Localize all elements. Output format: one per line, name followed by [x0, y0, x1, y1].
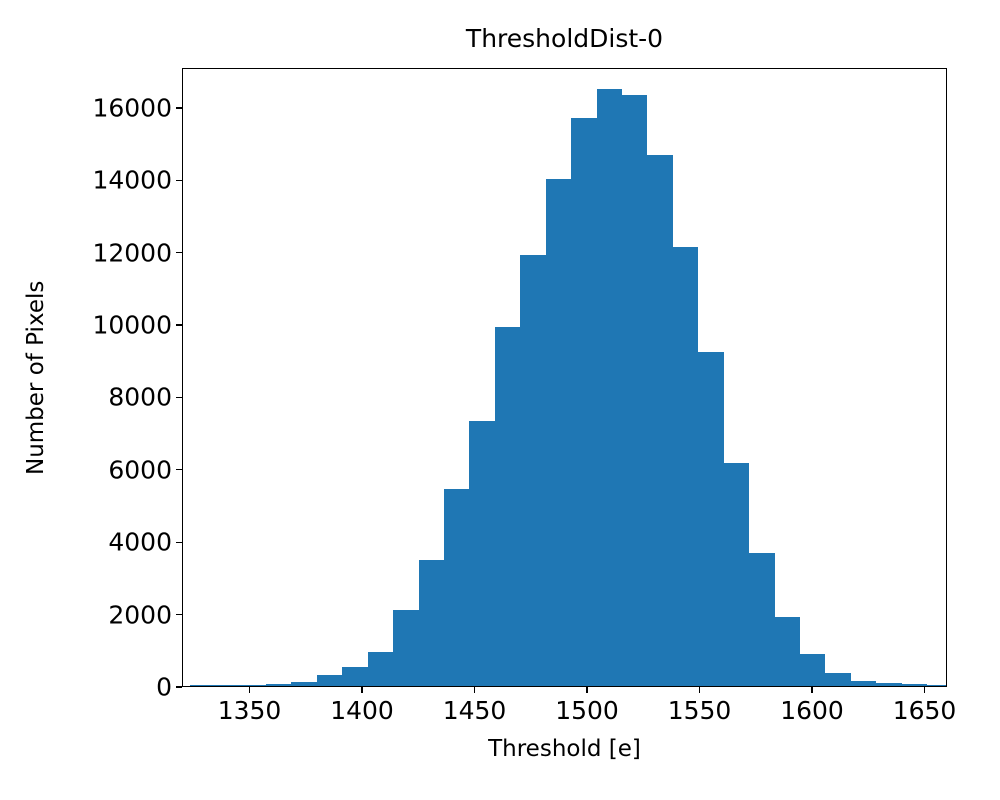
histogram-bar [419, 560, 444, 686]
histogram-bar [902, 684, 927, 686]
histogram-bar [927, 685, 947, 686]
y-axis-label: Number of Pixels [23, 281, 49, 475]
x-axis-tick-label: 1400 [330, 698, 394, 723]
histogram-bar [597, 89, 622, 686]
x-axis-tick-label: 1450 [443, 698, 507, 723]
histogram-bar [825, 673, 850, 686]
histogram-bar [724, 463, 749, 686]
y-axis-tick-label: 16000 [92, 95, 172, 120]
x-axis-tick-mark [924, 687, 925, 693]
x-axis-tick-label: 1650 [893, 698, 957, 723]
y-axis-tick-label: 6000 [108, 457, 172, 482]
y-axis-tick-label: 2000 [108, 602, 172, 627]
x-axis-tick-label: 1350 [218, 698, 282, 723]
x-axis-tick-mark [249, 687, 250, 693]
y-axis-tick-label: 12000 [92, 240, 172, 265]
x-axis-tick-label: 1600 [780, 698, 844, 723]
histogram-bars [183, 69, 946, 686]
histogram-bar [775, 617, 800, 687]
x-axis-tick-mark [699, 687, 700, 693]
histogram-bar [647, 155, 672, 686]
x-axis-tick-label: 1550 [668, 698, 732, 723]
y-axis-tick-mark [176, 542, 182, 543]
histogram-bar [876, 683, 901, 686]
y-axis-tick-mark [176, 252, 182, 253]
histogram-bar [393, 610, 418, 686]
y-axis-tick-mark [176, 397, 182, 398]
y-axis-tick-label: 4000 [108, 530, 172, 555]
histogram-bar [851, 681, 876, 686]
x-axis-tick-mark [361, 687, 362, 693]
histogram-bar [571, 118, 596, 686]
histogram-bar [749, 553, 774, 686]
chart-title: ThresholdDist-0 [182, 26, 947, 51]
histogram-figure: ThresholdDist-0 020004000600080001000012… [0, 0, 1000, 800]
histogram-bar [673, 247, 698, 686]
y-axis-tick-mark [176, 180, 182, 181]
x-axis-tick-label: 1500 [555, 698, 619, 723]
histogram-bar [800, 654, 825, 686]
histogram-bar [368, 652, 393, 686]
histogram-bar [190, 685, 215, 686]
histogram-bar [546, 179, 571, 687]
histogram-bar [266, 684, 291, 686]
histogram-bar [241, 685, 266, 686]
y-axis-tick-label: 14000 [92, 168, 172, 193]
y-axis-tick-mark [176, 324, 182, 325]
histogram-bar [342, 667, 367, 686]
x-axis-tick-mark [811, 687, 812, 693]
histogram-bar [622, 95, 647, 686]
histogram-bar [444, 489, 469, 686]
histogram-bar [495, 327, 520, 686]
histogram-bar [520, 255, 545, 686]
y-axis-tick-label: 8000 [108, 385, 172, 410]
x-axis-label: Threshold [e] [182, 738, 947, 761]
y-axis-tick-mark [176, 614, 182, 615]
plot-area [182, 68, 947, 687]
x-axis-tick-mark [586, 687, 587, 693]
y-axis-tick-label: 10000 [92, 313, 172, 338]
y-axis-tick-marks [176, 0, 182, 800]
histogram-bar [698, 352, 723, 686]
histogram-bar [215, 685, 240, 686]
y-axis-tick-mark [176, 469, 182, 470]
x-axis-tick-labels: 1350140014501500155016001650 [0, 698, 1000, 738]
x-axis-tick-marks [0, 687, 1000, 694]
histogram-bar [291, 682, 316, 686]
y-axis-tick-mark [176, 107, 182, 108]
x-axis-tick-mark [474, 687, 475, 693]
histogram-bar [469, 421, 494, 686]
histogram-bar [317, 675, 342, 686]
